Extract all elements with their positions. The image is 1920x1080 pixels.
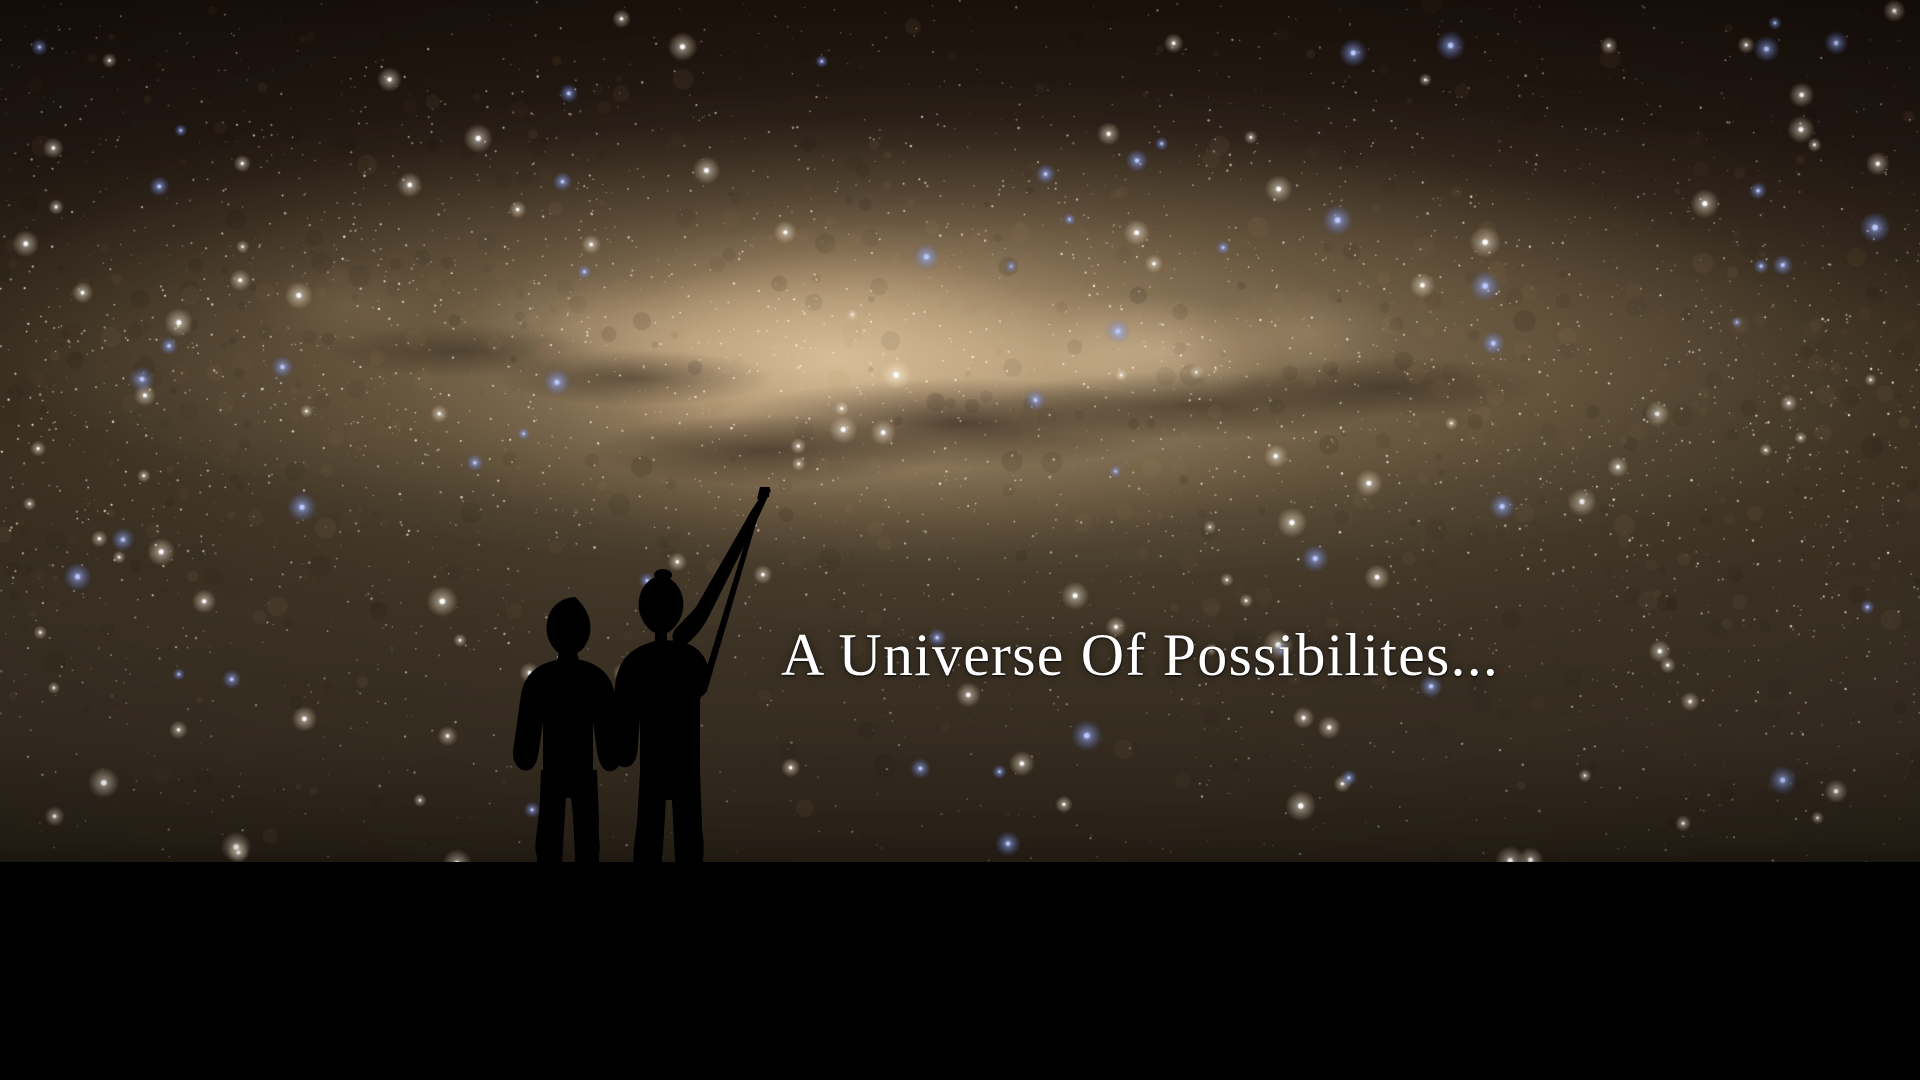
page-title: A Universe Of Possibilites... — [781, 625, 1499, 685]
vignette — [0, 0, 1920, 900]
ground-horizon — [0, 862, 1920, 1080]
hero-scene: A Universe Of Possibilites... — [0, 0, 1920, 1080]
ground-mass — [0, 880, 1920, 1080]
